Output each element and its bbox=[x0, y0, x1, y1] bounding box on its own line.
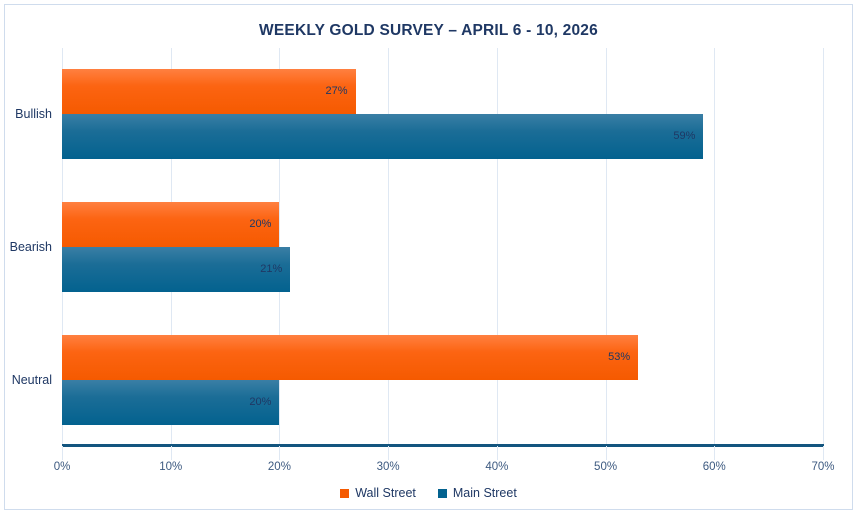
bar-value-label: 20% bbox=[249, 380, 271, 425]
x-tick-label: 30% bbox=[377, 461, 400, 473]
gridline-stub bbox=[714, 446, 715, 460]
gridline-stub bbox=[279, 446, 280, 460]
chart-legend: Wall StreetMain Street bbox=[0, 486, 857, 500]
gridline-stub bbox=[497, 446, 498, 460]
bar-value-label: 53% bbox=[608, 335, 630, 380]
bar-bearish-wall-street[interactable]: 20% bbox=[62, 202, 279, 247]
x-tick-label: 20% bbox=[268, 461, 291, 473]
gridline bbox=[497, 48, 498, 446]
chart-title: WEEKLY GOLD SURVEY – APRIL 6 - 10, 2026 bbox=[0, 22, 857, 40]
bar-value-label: 59% bbox=[673, 114, 695, 159]
gridline bbox=[714, 48, 715, 446]
x-axis-line bbox=[62, 444, 824, 447]
gridline-stub bbox=[606, 446, 607, 460]
legend-item-main-street[interactable]: Main Street bbox=[438, 486, 517, 500]
legend-label: Wall Street bbox=[355, 486, 416, 500]
legend-label: Main Street bbox=[453, 486, 517, 500]
bar-bullish-wall-street[interactable]: 27% bbox=[62, 69, 356, 114]
bar-bullish-main-street[interactable]: 59% bbox=[62, 114, 703, 159]
plot-area: 27%59%20%21%53%20% bbox=[62, 48, 823, 446]
gridline-stub bbox=[62, 446, 63, 460]
category-label-bearish: Bearish bbox=[10, 240, 52, 254]
legend-item-wall-street[interactable]: Wall Street bbox=[340, 486, 416, 500]
x-tick-label: 40% bbox=[485, 461, 508, 473]
legend-swatch-icon bbox=[438, 489, 447, 498]
bar-bearish-main-street[interactable]: 21% bbox=[62, 247, 290, 292]
category-label-bullish: Bullish bbox=[15, 107, 52, 121]
gridline-stub bbox=[171, 446, 172, 460]
legend-swatch-icon bbox=[340, 489, 349, 498]
bar-value-label: 20% bbox=[249, 202, 271, 247]
gridline bbox=[823, 48, 824, 446]
gridline bbox=[388, 48, 389, 446]
x-tick-label: 70% bbox=[811, 461, 834, 473]
bar-neutral-main-street[interactable]: 20% bbox=[62, 380, 279, 425]
x-tick-label: 0% bbox=[54, 461, 71, 473]
chart-container: WEEKLY GOLD SURVEY – APRIL 6 - 10, 2026 … bbox=[0, 0, 857, 515]
bar-value-label: 27% bbox=[325, 69, 347, 114]
gridline-stub bbox=[388, 446, 389, 460]
gridline-stub bbox=[823, 446, 824, 460]
x-tick-label: 10% bbox=[159, 461, 182, 473]
gridline bbox=[606, 48, 607, 446]
category-label-neutral: Neutral bbox=[12, 373, 52, 387]
bar-neutral-wall-street[interactable]: 53% bbox=[62, 335, 638, 380]
x-tick-label: 50% bbox=[594, 461, 617, 473]
bar-value-label: 21% bbox=[260, 247, 282, 292]
category-axis: BullishBearishNeutral bbox=[0, 48, 62, 446]
x-tick-label: 60% bbox=[703, 461, 726, 473]
